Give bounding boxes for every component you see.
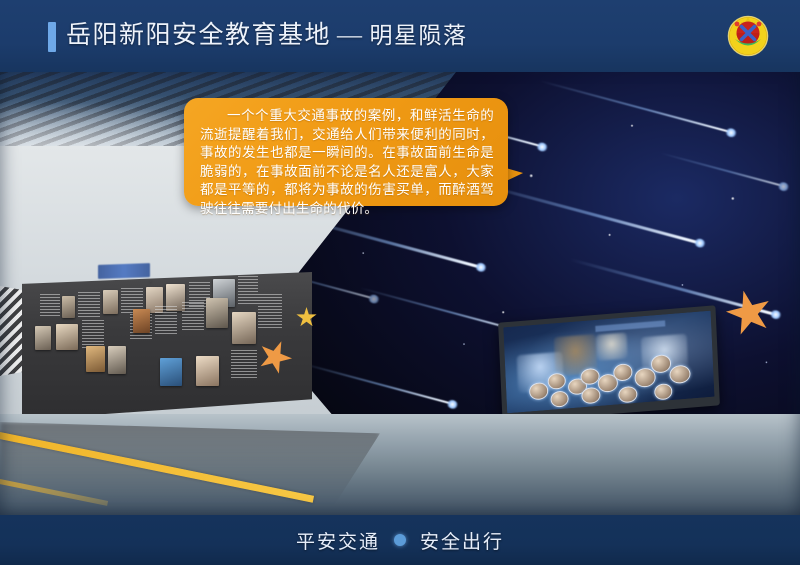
- wall-caption-block: [258, 294, 282, 328]
- display-portrait-photo: [595, 333, 627, 361]
- floor-reflection: [0, 422, 380, 517]
- wall-caption-block: [155, 306, 177, 334]
- page-header: 岳阳新阳安全教育基地—明星陨落: [0, 0, 800, 72]
- portrait-card: [206, 298, 228, 328]
- page-title-main: 岳阳新阳安全教育基地: [66, 22, 331, 49]
- portrait-card: [56, 324, 78, 350]
- portrait-card: [86, 346, 105, 372]
- display-avatar-icon[interactable]: [580, 368, 599, 386]
- page-footer: 平安交通 安全出行: [0, 515, 800, 565]
- portrait-card: [133, 309, 150, 333]
- portrait-card: [62, 296, 75, 318]
- wall-sign: [98, 263, 150, 279]
- page-root: 岳阳新阳安全教育基地—明星陨落: [0, 0, 800, 565]
- footer-slogan-right: 安全出行: [420, 527, 504, 554]
- footer-separator-dot-icon: [394, 534, 406, 546]
- page-title: 岳阳新阳安全教育基地—明星陨落: [66, 18, 468, 54]
- speech-bubble-text: 一个个重大交通事故的案例，和鲜活生命的流逝提醒着我们，交通给人们带来便利的同时，…: [200, 107, 494, 219]
- display-avatar-icon[interactable]: [654, 383, 673, 401]
- wall-caption-block: [78, 292, 100, 318]
- display-title-banner: [595, 320, 666, 332]
- header-accent-bar: [48, 22, 56, 52]
- portrait-card: [103, 290, 118, 314]
- wall-caption-block: [238, 276, 258, 304]
- display-avatar-icon[interactable]: [581, 387, 600, 405]
- display-avatar-icon[interactable]: [613, 364, 632, 382]
- display-screen[interactable]: [503, 311, 714, 414]
- wall-caption-block: [82, 320, 104, 348]
- wall-caption-block: [40, 294, 60, 318]
- footer-slogan-left: 平安交通: [296, 527, 380, 554]
- portrait-card: [150, 281, 151, 282]
- speech-bubble: 一个个重大交通事故的案例，和鲜活生命的流逝提醒着我们，交通给人们带来便利的同时，…: [184, 98, 508, 206]
- page-title-separator: —: [331, 22, 370, 49]
- portrait-card: [232, 312, 256, 344]
- display-avatar-icon[interactable]: [529, 382, 548, 400]
- portrait-card: [160, 358, 182, 386]
- wall-caption-block: [231, 350, 257, 380]
- display-avatar-icon[interactable]: [669, 364, 691, 384]
- display-avatar-icon[interactable]: [634, 368, 656, 388]
- portrait-card: [108, 346, 126, 374]
- traffic-police-emblem-icon: [724, 11, 772, 59]
- display-avatar-icon[interactable]: [550, 390, 569, 408]
- page-title-sub: 明星陨落: [370, 23, 468, 48]
- portrait-card: [35, 326, 51, 350]
- wall-caption-block: [182, 302, 204, 330]
- interactive-touch-display[interactable]: [498, 305, 720, 422]
- display-avatar-icon[interactable]: [618, 386, 637, 404]
- portrait-card: [196, 356, 219, 386]
